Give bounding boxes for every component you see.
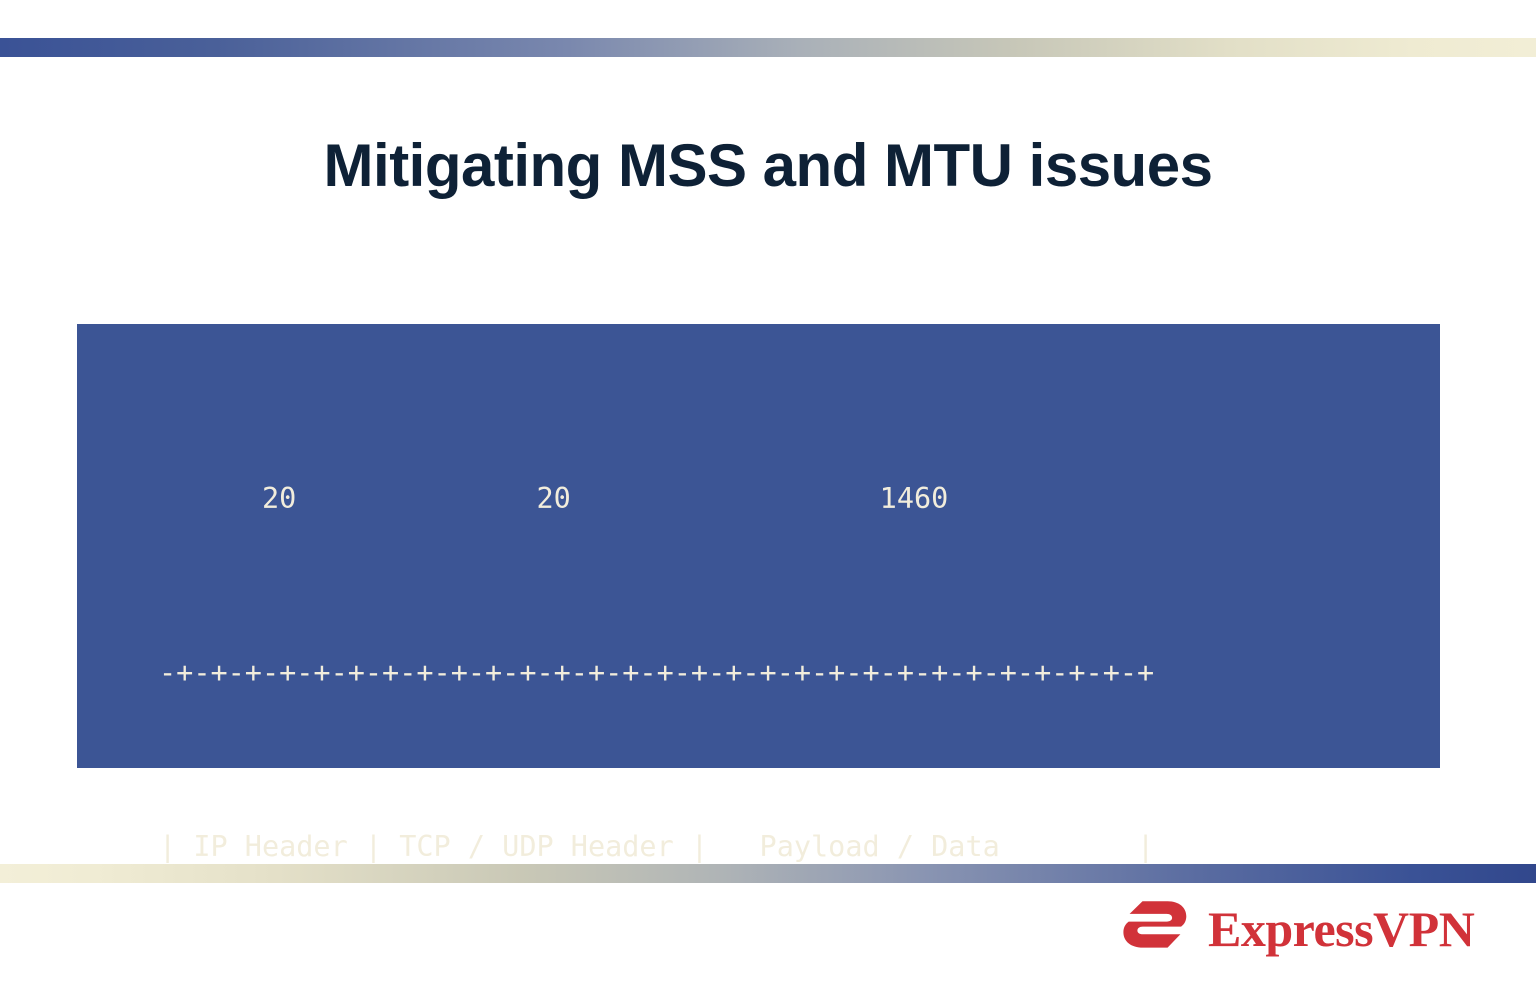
expressvpn-wordmark: ExpressVPN (1208, 904, 1474, 954)
top-gradient-bar (0, 38, 1536, 57)
ascii-line-bottom-border: -+-+-+-+-+-+-+-+-+-+-+-+-+-+-+-+-+-+-+-+… (159, 992, 1440, 1004)
ascii-line-top-border: -+-+-+-+-+-+-+-+-+-+-+-+-+-+-+-+-+-+-+-+… (159, 644, 1440, 702)
ascii-line-sizes: 20 20 1460 (159, 470, 1440, 528)
ascii-line-fields: | IP Header | TCP / UDP Header | Payload… (159, 818, 1440, 876)
expressvpn-e-mark-icon (1120, 898, 1192, 960)
expressvpn-logo: ExpressVPN (1120, 898, 1474, 960)
packet-structure-diagram: 20 20 1460 -+-+-+-+-+-+-+-+-+-+-+-+-+-+-… (77, 324, 1440, 768)
page-title: Mitigating MSS and MTU issues (0, 131, 1536, 200)
